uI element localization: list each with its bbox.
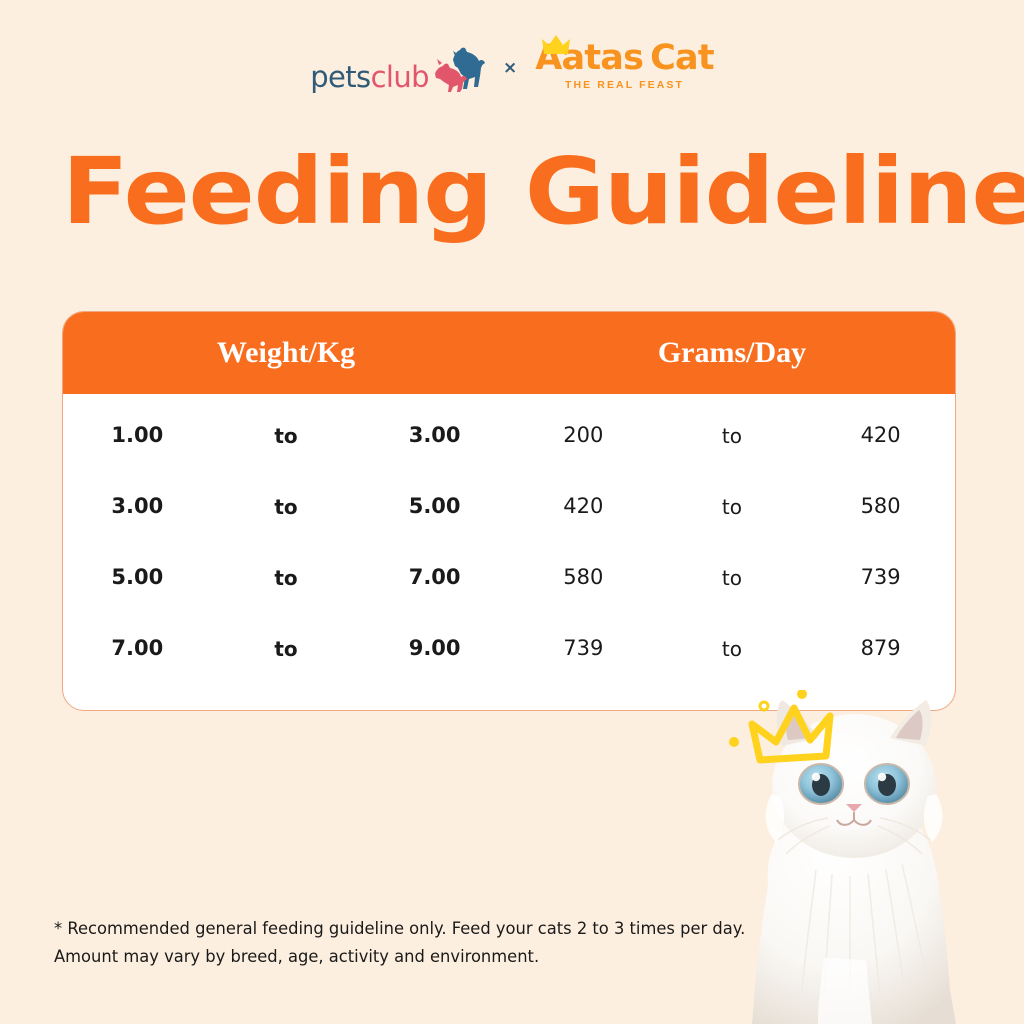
cell-weight-max: 9.00	[360, 638, 509, 659]
crown-icon	[541, 34, 571, 56]
table-row: 3.00 to 5.00 420 to 580	[63, 471, 955, 542]
table-body: 1.00 to 3.00 200 to 420 3.00 to 5.00 420…	[63, 394, 955, 710]
cell-grams-min: 580	[509, 567, 658, 588]
cell-grams-max: 739	[806, 567, 955, 588]
cell-weight-separator: to	[212, 568, 361, 588]
cell-weight-max: 7.00	[360, 567, 509, 588]
cell-grams-separator: to	[658, 639, 807, 659]
petsclub-word-pets: pets	[310, 60, 370, 94]
table-row: 5.00 to 7.00 580 to 739	[63, 542, 955, 613]
cell-grams-max: 879	[806, 638, 955, 659]
footnote: * Recommended general feeding guideline …	[54, 916, 716, 971]
aatas-tagline: THE REAL FEAST	[565, 79, 684, 91]
cell-grams-separator: to	[658, 568, 807, 588]
cell-weight-min: 7.00	[63, 638, 212, 659]
aatas-cat-logo: AatasCat THE REAL FEAST	[535, 38, 714, 94]
cell-grams-min: 739	[509, 638, 658, 659]
dog-and-cat-silhouette-icon	[423, 46, 485, 94]
brand-separator-x: ×	[503, 58, 517, 78]
table-header-row: Weight/Kg Grams/Day	[63, 312, 955, 394]
cell-weight-min: 3.00	[63, 496, 212, 517]
cell-grams-max: 420	[806, 425, 955, 446]
table-row: 1.00 to 3.00 200 to 420	[63, 400, 955, 471]
cell-grams-min: 200	[509, 425, 658, 446]
crown-doodle-icon	[752, 708, 830, 760]
column-header-grams: Grams/Day	[509, 336, 955, 370]
cell-weight-separator: to	[212, 639, 361, 659]
cell-weight-separator: to	[212, 497, 361, 517]
petsclub-word-club: club	[371, 60, 429, 94]
table-row: 7.00 to 9.00 739 to 879	[63, 613, 955, 684]
cell-weight-max: 3.00	[360, 425, 509, 446]
footnote-line-2: Amount may vary by breed, age, activity …	[54, 944, 716, 972]
cell-weight-min: 1.00	[63, 425, 212, 446]
brand-logo-bar: petsclub × AatasCat THE REAL FEAST	[0, 36, 1024, 96]
cell-grams-max: 580	[806, 496, 955, 517]
aatas-word-part2: Cat	[650, 38, 714, 78]
cell-grams-separator: to	[658, 497, 807, 517]
footnote-line-1: * Recommended general feeding guideline …	[54, 916, 716, 944]
feeding-guidelines-table: Weight/Kg Grams/Day 1.00 to 3.00 200 to …	[62, 311, 956, 711]
cell-weight-separator: to	[212, 426, 361, 446]
petsclub-wordmark: petsclub	[310, 63, 429, 92]
cell-weight-max: 5.00	[360, 496, 509, 517]
page-title: Feeding Guidelines	[62, 142, 1024, 241]
cell-grams-min: 420	[509, 496, 658, 517]
white-cat-with-crown-photo	[706, 690, 1024, 1024]
cell-grams-separator: to	[658, 426, 807, 446]
cell-weight-min: 5.00	[63, 567, 212, 588]
column-header-weight: Weight/Kg	[63, 336, 509, 370]
petsclub-logo: petsclub	[310, 38, 485, 94]
